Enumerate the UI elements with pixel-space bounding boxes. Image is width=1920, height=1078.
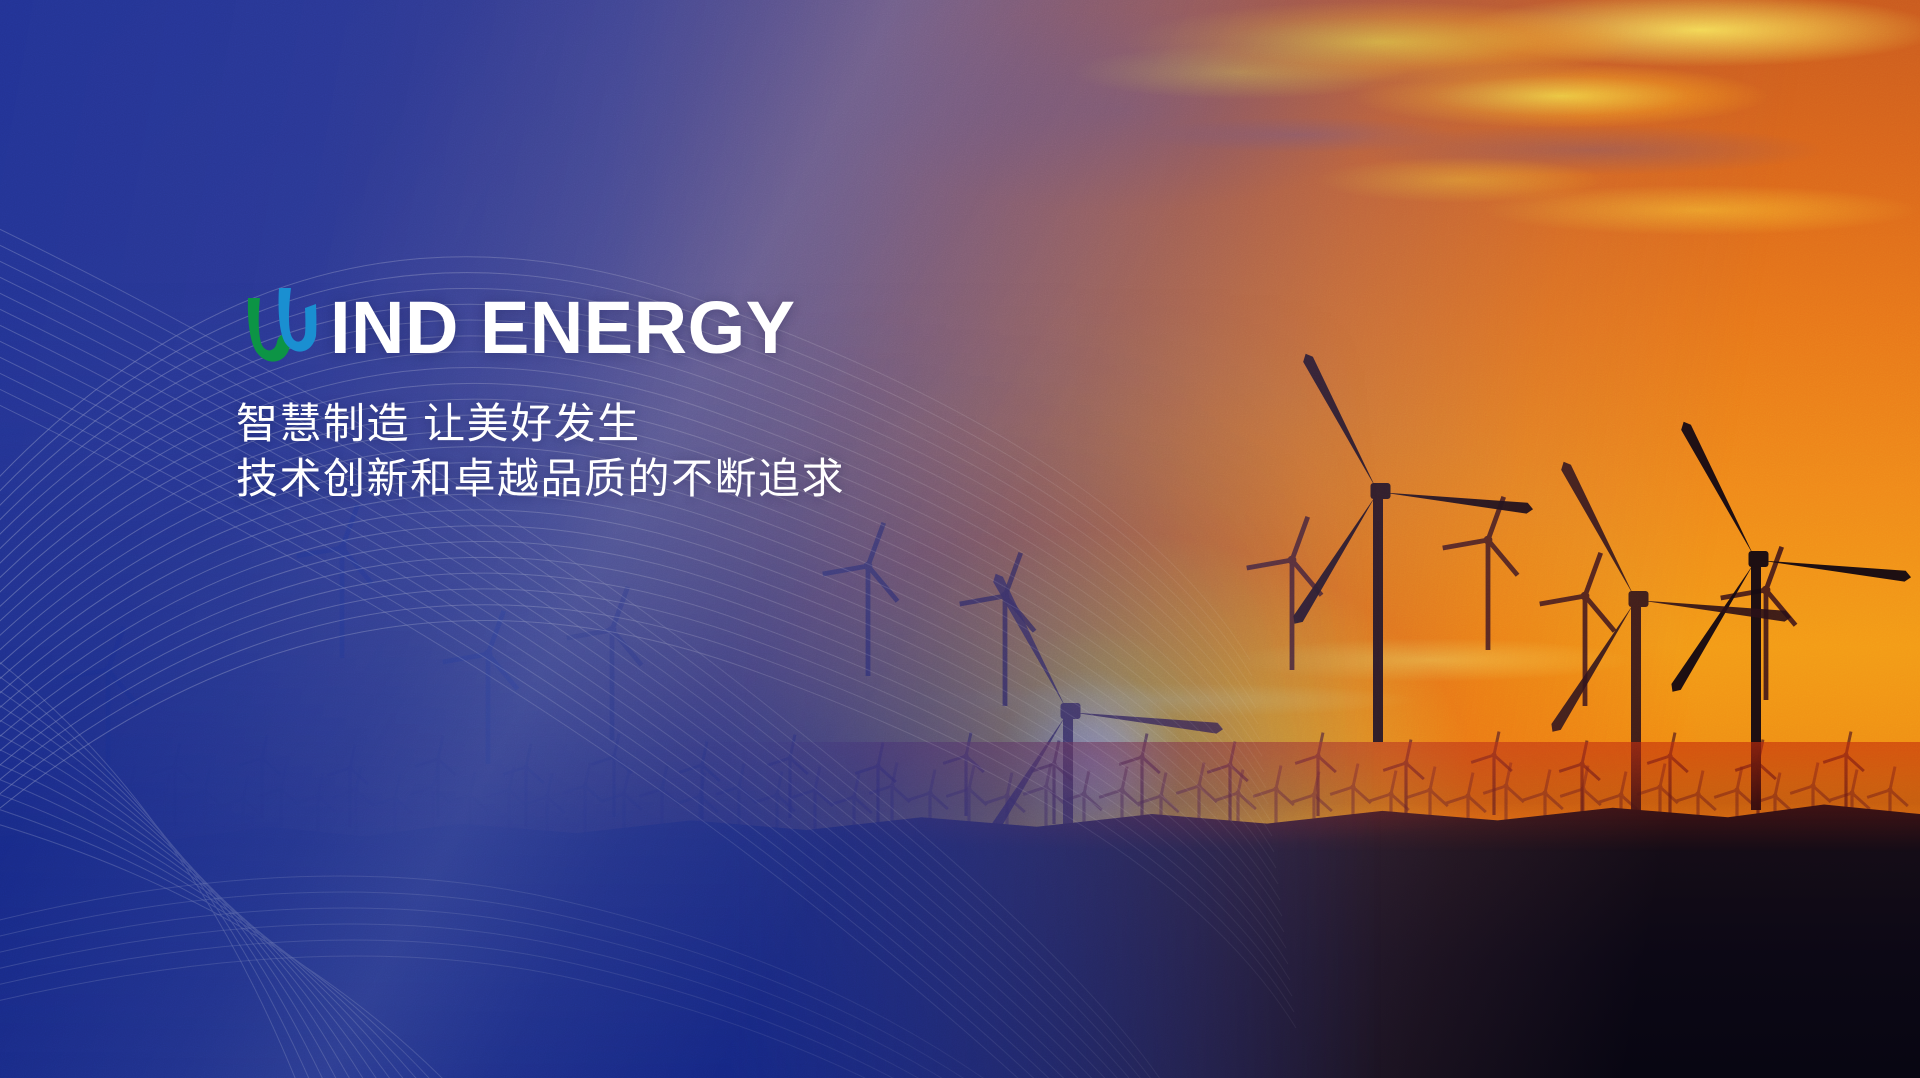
- film-grain: [0, 0, 1920, 1078]
- hero-banner: IND ENERGY 智慧制造 让美好发生 技术创新和卓越品质的不断追求: [0, 0, 1920, 1078]
- wind-w-logomark-icon: [236, 282, 328, 374]
- tagline: 智慧制造 让美好发生 技术创新和卓越品质的不断追求: [236, 396, 1136, 507]
- hero-copy: IND ENERGY 智慧制造 让美好发生 技术创新和卓越品质的不断追求: [236, 282, 1136, 507]
- brand-name: IND ENERGY: [330, 291, 796, 365]
- brand-lockup: IND ENERGY: [236, 282, 1136, 374]
- tagline-line-2: 技术创新和卓越品质的不断追求: [236, 451, 1136, 506]
- tagline-line-1: 智慧制造 让美好发生: [236, 396, 1136, 451]
